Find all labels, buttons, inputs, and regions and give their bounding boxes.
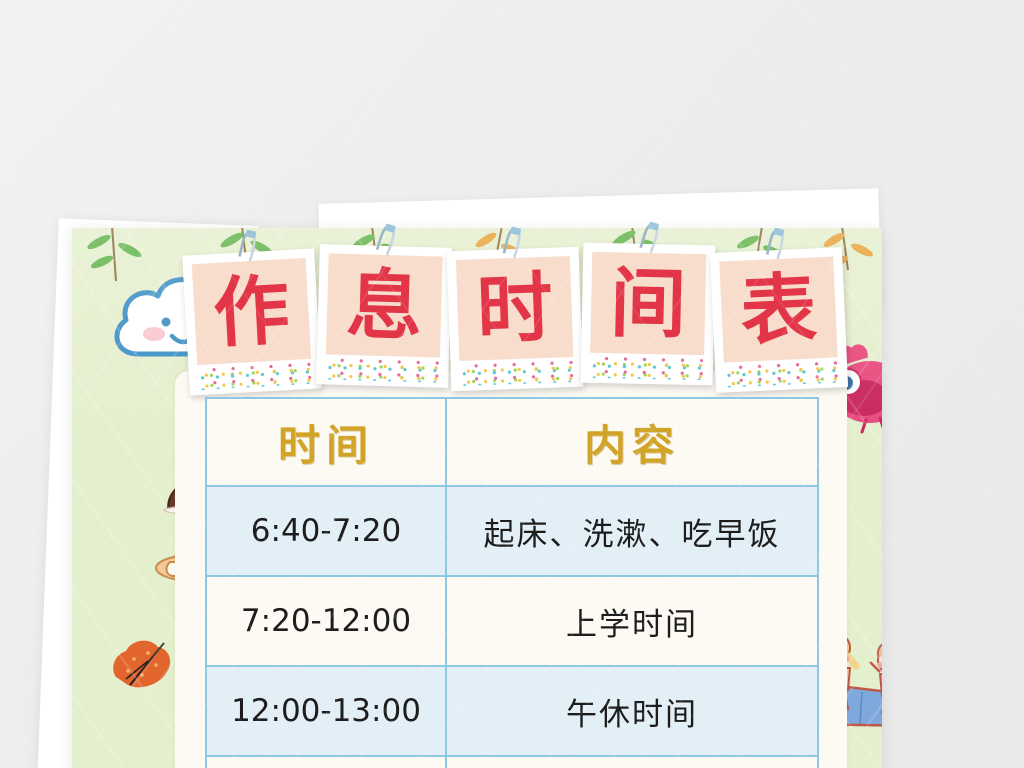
标题卡片-2: 息 — [316, 244, 452, 388]
表头文字-时间: 时间 — [278, 421, 374, 470]
标题卡片内衬: 时 — [456, 256, 573, 361]
标题字-4: 间 — [609, 265, 687, 343]
单元格-内容: 午休时间 — [446, 666, 818, 756]
枫叶-装饰图标 — [104, 633, 184, 703]
表格行-截断 — [206, 756, 818, 768]
作息时间表-表格: 时间 内容 6:40-7:20 起床、洗漱、吃早饭 7:20-12:00 上学时… — [205, 397, 819, 768]
回形针图标 — [373, 222, 399, 259]
单元格-内容 — [446, 756, 818, 768]
标题字-1: 作 — [211, 271, 291, 351]
表头文字-内容: 内容 — [584, 421, 680, 470]
标题卡片-3: 时 — [447, 247, 584, 392]
表头单元格-时间: 时间 — [206, 398, 446, 486]
彩色纸屑装饰 — [197, 362, 312, 390]
时间文字: 7:20-12:00 — [241, 603, 411, 639]
标题卡片内衬: 作 — [192, 258, 311, 365]
标题字-3: 时 — [475, 269, 554, 348]
回形针图标 — [637, 220, 662, 257]
单元格-时间: 7:20-12:00 — [206, 576, 446, 666]
表头单元格-内容: 内容 — [446, 398, 818, 486]
单元格-内容: 起床、洗漱、吃早饭 — [446, 486, 818, 576]
内容文字: 起床、洗漱、吃早饭 — [484, 517, 781, 553]
内容文字: 上学时间 — [566, 607, 698, 643]
彩色纸屑装饰 — [460, 360, 575, 386]
时间文字: 12:00-13:00 — [231, 693, 421, 729]
标题卡片内衬: 息 — [326, 253, 443, 357]
单元格-时间 — [206, 756, 446, 768]
内容文字: 午休时间 — [566, 697, 698, 733]
单元格-时间: 6:40-7:20 — [206, 486, 446, 576]
单元格-时间: 12:00-13:00 — [206, 666, 446, 756]
表头行: 时间 内容 — [206, 398, 818, 486]
标题卡片-4: 间 — [581, 243, 716, 386]
表格行: 6:40-7:20 起床、洗漱、吃早饭 — [206, 486, 818, 576]
彩色纸屑装饰 — [590, 356, 704, 380]
标题字-5: 表 — [739, 270, 818, 349]
标题卡片内衬: 间 — [590, 252, 706, 355]
彩色纸屑装饰 — [724, 360, 839, 387]
标题字-2: 息 — [345, 266, 423, 344]
表格行: 7:20-12:00 上学时间 — [206, 576, 818, 666]
单元格-内容: 上学时间 — [446, 576, 818, 666]
标题卡片-5: 表 — [710, 247, 848, 393]
时间文字: 6:40-7:20 — [251, 513, 401, 549]
彩色纸屑装饰 — [325, 357, 440, 382]
表格行: 12:00-13:00 午休时间 — [206, 666, 818, 756]
标题区域: 作 息 时 间 — [0, 0, 1024, 400]
标题卡片内衬: 表 — [719, 256, 837, 362]
标题卡片-1: 作 — [182, 248, 322, 395]
